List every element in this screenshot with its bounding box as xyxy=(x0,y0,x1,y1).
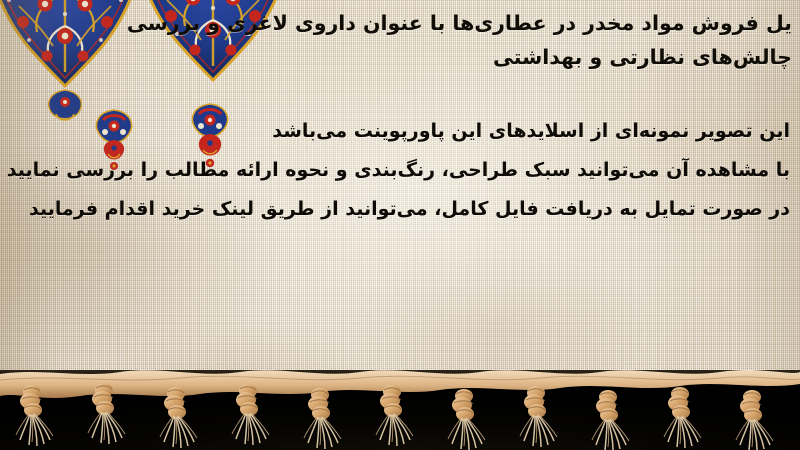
slide-title: یل فروش مواد مخدر در عطاری‌ها با عنوان د… xyxy=(120,6,792,74)
body-line-2: با مشاهده آن می‌توانید سبک طراحی، رنگ‌بن… xyxy=(60,151,790,190)
body-line-1: این تصویر نمونه‌ای از اسلایدهای این پاور… xyxy=(60,112,790,151)
body-line-3: در صورت تمایل به دریافت فایل کامل، می‌تو… xyxy=(60,190,790,229)
slide-body: این تصویر نمونه‌ای از اسلایدهای این پاور… xyxy=(60,112,790,229)
carpet-fringe xyxy=(0,366,800,450)
title-line-1: یل فروش مواد مخدر در عطاری‌ها با عنوان د… xyxy=(120,6,792,40)
slide-canvas: یل فروش مواد مخدر در عطاری‌ها با عنوان د… xyxy=(0,0,800,450)
title-line-2: چالش‌های نظارتی و بهداشتی xyxy=(120,40,792,74)
